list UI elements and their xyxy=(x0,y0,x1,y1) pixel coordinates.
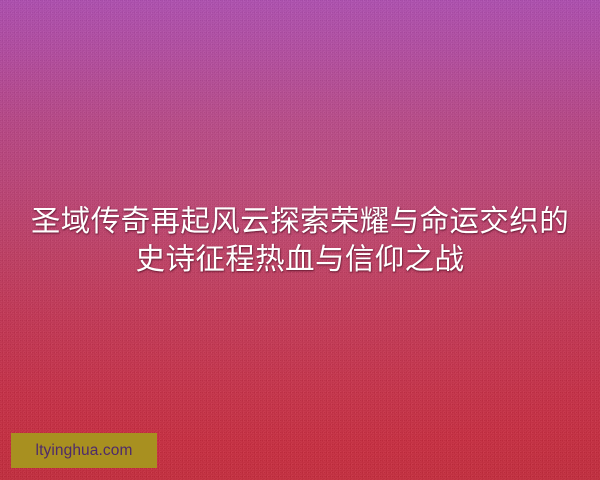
watermark-site-label: ltyinghua.com xyxy=(36,443,133,459)
watermark-badge: ltyinghua.com xyxy=(11,433,157,468)
headline-title: 圣域传奇再起风云探索荣耀与命运交织的 史诗征程热血与信仰之战 xyxy=(0,203,600,279)
cover-image-canvas: 圣域传奇再起风云探索荣耀与命运交织的 史诗征程热血与信仰之战 ltyinghua… xyxy=(0,0,600,480)
